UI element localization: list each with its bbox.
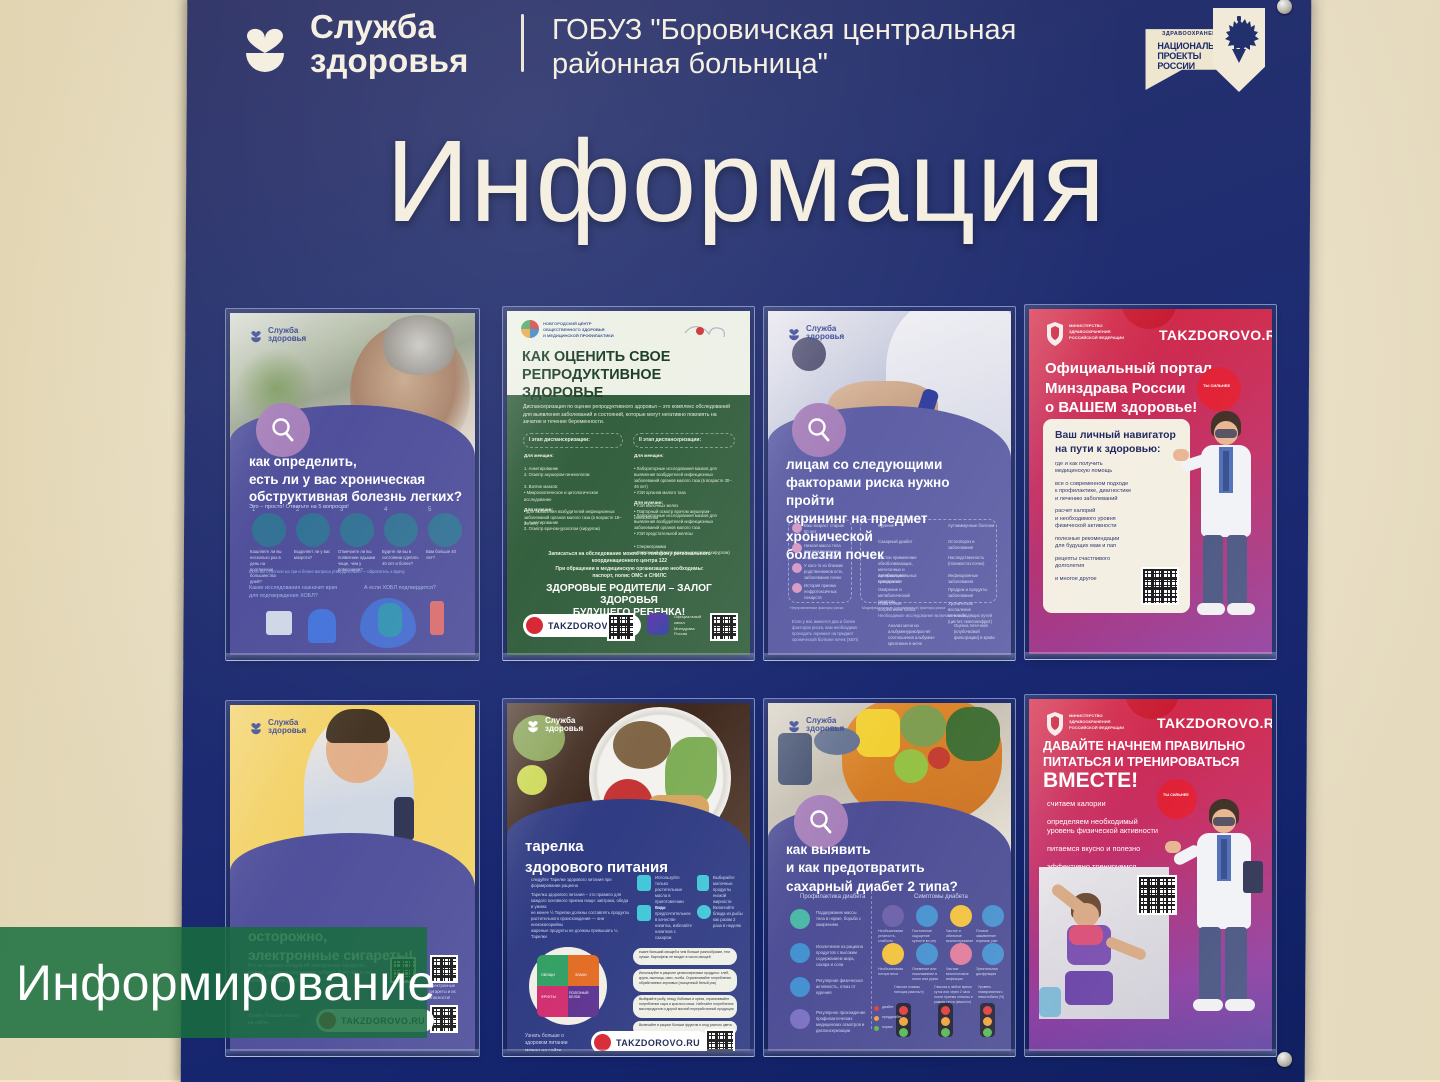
information-board: Служба здоровья ГОБУЗ "Боровичская центр… [181, 0, 1312, 1082]
poster-headline-accent-together: ВМЕСТЕ! [1043, 769, 1138, 793]
poster-ministry-together: МИНИСТЕРСТВО ЗДРАВООХРАНЕНИЯ РОССИЙСКОЙ … [1069, 713, 1139, 730]
kidney-col1-caption: Неуправляемые факторы риска [790, 606, 850, 611]
stage1-men-list: 1. Анкетирование2. Осмотр врачом-уролого… [524, 514, 624, 538]
poster-footer-right-copd: А если ХОБЛ подтвердится? [364, 585, 469, 593]
poster-brand-ecig: Служба здоровья [248, 719, 306, 736]
max-messenger-icon [647, 613, 669, 635]
poster-headline-diabetes: как выявить и как предотвратить сахарный… [786, 841, 998, 896]
poster-headline-plate: тарелка здорового питания [525, 837, 735, 878]
doctor-illustration-together [1177, 799, 1269, 1021]
portal-card-title: Ваш личный навигатор на пути к здоровью: [1055, 429, 1183, 456]
stop-hiv-logo [682, 320, 732, 344]
kidney-screen-item-2: Оценка почечной (клубочковой фильтрации)… [954, 623, 1002, 641]
poster-contact-reproductive: Записаться на обследование можно по теле… [527, 551, 732, 580]
kidney-screen-title: Необходимое исследование включает в себя… [878, 613, 988, 619]
brand-name: Служба здоровья [310, 10, 468, 77]
ministry-logo-together [1045, 711, 1065, 737]
magnifier-icon-kidney [792, 403, 846, 457]
poster-slot-kidney-screening[interactable]: Служба здоровья лицам со следующими факт… [768, 311, 1011, 655]
plate-chart: ОВОЩИ ЗЛАКИ ФРУКТЫ ПОЛЕЗНЫЙ БЕЛОК [529, 947, 607, 1025]
tz-round-badge-portal [1197, 367, 1241, 411]
poster-org-reproductive: НОВГОРОДСКИЙ ЦЕНТР ОБЩЕСТВЕННОГО ЗДОРОВЬ… [543, 321, 663, 338]
poster-slot-copd[interactable]: Служба здоровья как определить, есть ли … [230, 313, 475, 655]
poster-stage2-title: II этап диспансеризации: [639, 437, 701, 444]
poster-stage1-title: I этап диспансеризации: [529, 437, 590, 444]
takzdorovo-badge-plate[interactable]: TAKZDOROVO.RU [591, 1031, 709, 1051]
poster-channel-reproductive: Официальный канал Минздрава России [674, 614, 708, 637]
poster-slot-reproductive-health[interactable]: НОВГОРОДСКИЙ ЦЕНТР ОБЩЕСТВЕННОГО ЗДОРОВЬ… [507, 311, 750, 655]
novgorod-center-logo [521, 320, 539, 338]
board-screw-bottom-right [1277, 1052, 1292, 1067]
heart-smile-icon [234, 13, 296, 75]
poster-site-portal: TAKZDOROVO.RU [1159, 327, 1272, 343]
poster-slot-eat-train-together[interactable]: МИНИСТЕРСТВО ЗДРАВООХРАНЕНИЯ РОССИЙСКОЙ … [1029, 699, 1272, 1051]
poster-ministry-portal: МИНИСТЕРСТВО ЗДРАВООХРАНЕНИЯ РОССИЙСКОЙ … [1069, 323, 1139, 340]
qr-code-portal[interactable] [1141, 567, 1179, 605]
qr-code-reproductive-2[interactable] [710, 613, 738, 641]
poster-brand-diabetes: Служба здоровья [786, 717, 844, 734]
diabetes-col1-title: Профилактика диабета [800, 893, 865, 902]
poster-headline-together: ДАВАЙТЕ НАЧНЕМ ПРАВИЛЬНО ПИТАТЬСЯ И ТРЕН… [1043, 739, 1263, 771]
poster-headline-copd: как определить, есть ли у вас хроническа… [249, 453, 464, 506]
caption-text: Информирование [16, 954, 436, 1012]
stage2-men-title: Для мужчин: [634, 500, 663, 507]
header-divider [521, 14, 524, 72]
portal-bullets: где и как получить медицинскую помощь вс… [1055, 461, 1181, 583]
stage1-women-title: Для женщин: [524, 453, 554, 460]
kidney-screen-item-1: Анализ мочи на альбуминурию/расчет соотн… [888, 623, 943, 647]
board-header: Служба здоровья ГОБУЗ "Боровичская центр… [184, 0, 1308, 108]
poster-brand-kidney: Служба здоровья [786, 325, 844, 342]
organization-name: ГОБУЗ "Боровичская центральная районная … [552, 13, 1112, 81]
poster-slot-takzdorovo-portal[interactable]: МИНИСТЕРСТВО ЗДРАВООХРАНЕНИЯ РОССИЙСКОЙ … [1029, 309, 1272, 654]
caption-overlay: Информирование [0, 927, 427, 1038]
doctor-illustration-portal [1181, 411, 1267, 623]
qr-code-reproductive-1[interactable] [607, 613, 635, 641]
poster-note-copd: Если вы ответили на три и более вопроса … [249, 569, 461, 575]
poster-brand-plate: Служба здоровья [525, 717, 583, 734]
poster-footer-note-plate: Узнать больше о здоровом питании можно н… [525, 1033, 587, 1051]
qr-code-together[interactable] [1137, 875, 1177, 915]
poster-footer-left-copd: Какие исследования назначит врач для под… [249, 585, 354, 601]
poster-intro-reproductive: Диспансеризация по оценке репродуктивног… [523, 404, 733, 427]
together-bullets: считаем калории определяем необходимый у… [1047, 799, 1195, 871]
diabetes-col2-title: Симптомы диабета [914, 893, 968, 902]
stage1-men-title: Для мужчин: [524, 507, 553, 514]
poster-brand-copd: Служба здоровья [248, 327, 306, 344]
poster-headline-reproductive: КАК ОЦЕНИТЬ СВОЕ РЕПРОДУКТИВНОЕ ЗДОРОВЬЕ [522, 349, 737, 403]
page-title: Информация [184, 114, 1308, 248]
kidney-col2-caption: Модифицируемые (управляемые) факторы рис… [862, 606, 992, 611]
stage2-women-title: Для женщин: [634, 453, 664, 460]
poster-slot-healthy-plate[interactable]: Служба здоровья тарелка здорового питани… [507, 703, 750, 1051]
service-health-logo: Служба здоровья [234, 10, 468, 77]
poster-slot-diabetes[interactable]: Служба здоровья как выявить и как предот… [768, 703, 1011, 1051]
ministry-logo-portal [1045, 321, 1065, 347]
qr-code-plate[interactable] [705, 1029, 735, 1051]
poster-site-together: TAKZDOROVO.RU [1157, 715, 1272, 731]
magnifier-icon-copd [256, 403, 310, 457]
kidney-note: Если у вас имеются два и более факторов … [792, 619, 862, 643]
